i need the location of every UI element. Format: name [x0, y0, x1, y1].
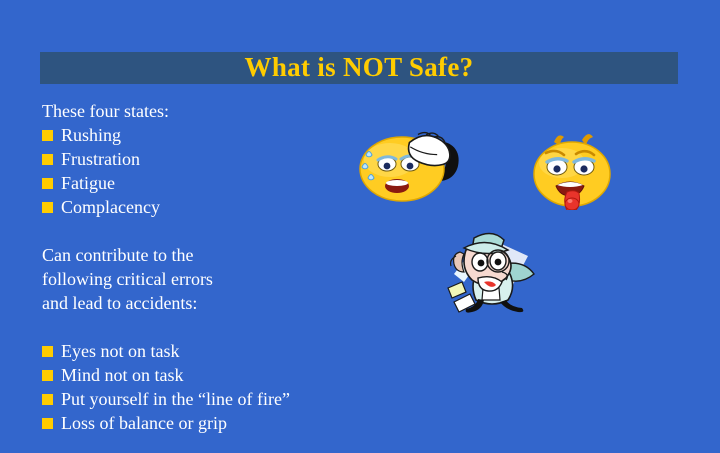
list-item: Put yourself in the “line of fire”	[42, 387, 290, 411]
square-bullet-icon	[42, 130, 53, 141]
square-bullet-icon	[42, 178, 53, 189]
list-item-label: Rushing	[61, 123, 121, 147]
list-item: Loss of balance or grip	[42, 411, 290, 435]
list-item-label: Loss of balance or grip	[61, 411, 227, 435]
exhausted-tongue-out-face-icon	[524, 128, 624, 210]
list-item-label: Complacency	[61, 195, 160, 219]
contribute-line-1: Can contribute to the	[42, 243, 213, 267]
title-band: What is NOT Safe?	[40, 52, 678, 84]
page-title: What is NOT Safe?	[40, 52, 678, 84]
square-bullet-icon	[42, 370, 53, 381]
list-item: Mind not on task	[42, 363, 290, 387]
square-bullet-icon	[42, 346, 53, 357]
list-item-label: Frustration	[61, 147, 140, 171]
square-bullet-icon	[42, 154, 53, 165]
square-bullet-icon	[42, 418, 53, 429]
sweating-tired-face-icon	[352, 122, 470, 204]
contribute-text-block: Can contribute to the following critical…	[42, 243, 213, 315]
list-item: Complacency	[42, 195, 160, 219]
slide-canvas: What is NOT Safe? These four states: Rus…	[0, 0, 720, 453]
contribute-line-2: following critical errors	[42, 267, 213, 291]
square-bullet-icon	[42, 394, 53, 405]
list-item-label: Mind not on task	[61, 363, 184, 387]
list-item: Rushing	[42, 123, 160, 147]
list-item: Fatigue	[42, 171, 160, 195]
rushing-man-icon	[440, 216, 550, 320]
errors-bullet-list: Eyes not on task Mind not on task Put yo…	[42, 339, 290, 435]
list-item-label: Put yourself in the “line of fire”	[61, 387, 290, 411]
intro-line: These four states:	[42, 99, 169, 123]
intro-text-block: These four states:	[42, 99, 169, 123]
list-item-label: Fatigue	[61, 171, 115, 195]
square-bullet-icon	[42, 202, 53, 213]
list-item: Frustration	[42, 147, 160, 171]
list-item-label: Eyes not on task	[61, 339, 180, 363]
states-bullet-list: Rushing Frustration Fatigue Complacency	[42, 123, 160, 219]
list-item: Eyes not on task	[42, 339, 290, 363]
contribute-line-3: and lead to accidents:	[42, 291, 213, 315]
